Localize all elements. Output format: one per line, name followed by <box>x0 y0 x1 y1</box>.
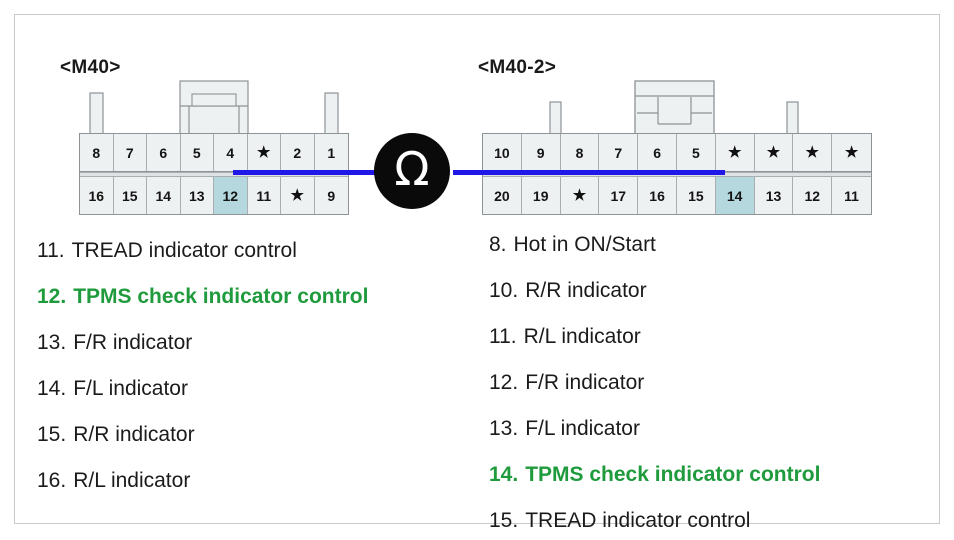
pin-description-m40-13: 13.F/R indicator <box>37 319 487 365</box>
pin-cell-m40-2-top-star[interactable]: ★ <box>832 134 871 171</box>
pin-cell-m40-2-top-5[interactable]: 5 <box>677 134 716 171</box>
pin-cell-m40-bottom-11[interactable]: 11 <box>248 177 282 214</box>
pin-cell-label: 19 <box>533 188 549 204</box>
pin-description-number: 16. <box>37 470 66 491</box>
pin-description-m40-14: 14.F/L indicator <box>37 365 487 411</box>
pin-cell-label: 13 <box>766 188 782 204</box>
pin-cell-label: 11 <box>256 188 271 204</box>
pin-cell-label: 13 <box>189 188 205 204</box>
pin-cell-label: 5 <box>692 145 700 161</box>
pin-description-m40-2-12: 12.F/R indicator <box>489 359 949 405</box>
pin-description-text: TREAD indicator control <box>72 240 297 261</box>
pin-cell-label: 14 <box>155 188 171 204</box>
pin-cell-label: 9 <box>537 145 545 161</box>
pin-description-text: TPMS check indicator control <box>525 464 820 485</box>
pin-description-text: F/R indicator <box>73 332 192 353</box>
pin-cell-label: ★ <box>728 145 741 160</box>
pin-cell-label: 15 <box>688 188 704 204</box>
m40-pin-description-list: 11.TREAD indicator control12.TPMS check … <box>37 227 487 503</box>
pin-cell-label: 12 <box>804 188 820 204</box>
pin-description-number: 8. <box>489 234 507 255</box>
pin-cell-label: 7 <box>126 145 134 161</box>
pin-cell-m40-bottom-12[interactable]: 12 <box>214 177 248 214</box>
wire-segment-right <box>453 170 725 175</box>
pin-cell-m40-top-1[interactable]: 1 <box>315 134 349 171</box>
pin-cell-m40-2-bottom-12[interactable]: 12 <box>793 177 832 214</box>
pin-description-text: TPMS check indicator control <box>73 286 368 307</box>
pin-cell-m40-top-6[interactable]: 6 <box>147 134 181 171</box>
pin-description-m40-15: 15.R/R indicator <box>37 411 487 457</box>
pin-description-text: R/L indicator <box>73 470 190 491</box>
m40-top-pin-row: 87654★21 <box>80 134 348 172</box>
pin-description-number: 12. <box>37 286 66 307</box>
pin-cell-label: 16 <box>88 188 104 204</box>
pin-cell-label: ★ <box>291 188 304 203</box>
pin-cell-label: 9 <box>327 188 335 204</box>
pin-cell-m40-top-8[interactable]: 8 <box>80 134 114 171</box>
pin-description-m40-2-15: 15.TREAD indicator control <box>489 497 949 540</box>
pin-description-text: F/L indicator <box>73 378 188 399</box>
pin-description-m40-2-11: 11.R/L indicator <box>489 313 949 359</box>
pin-cell-label: ★ <box>806 145 819 160</box>
pin-cell-m40-2-top-6[interactable]: 6 <box>638 134 677 171</box>
pin-description-number: 12. <box>489 372 518 393</box>
m40-bottom-pin-row: 161514131211★9 <box>80 177 348 214</box>
pin-cell-m40-2-bottom-13[interactable]: 13 <box>755 177 794 214</box>
pin-description-m40-16: 16.R/L indicator <box>37 457 487 503</box>
pin-description-text: F/R indicator <box>525 372 644 393</box>
pin-cell-m40-2-top-star[interactable]: ★ <box>716 134 755 171</box>
ohm-meter-icon: Ω <box>374 133 450 209</box>
pin-cell-m40-2-top-10[interactable]: 10 <box>483 134 522 171</box>
pin-cell-label: 10 <box>494 145 510 161</box>
pin-description-m40-2-13: 13.F/L indicator <box>489 405 949 451</box>
pin-description-number: 11. <box>489 326 517 347</box>
pin-cell-m40-top-2[interactable]: 2 <box>281 134 315 171</box>
pin-description-m40-12: 12.TPMS check indicator control <box>37 273 487 319</box>
pin-description-number: 14. <box>37 378 66 399</box>
pin-cell-m40-2-top-8[interactable]: 8 <box>561 134 600 171</box>
pin-description-text: R/R indicator <box>525 280 646 301</box>
pin-description-number: 14. <box>489 464 518 485</box>
pin-cell-label: 14 <box>727 188 743 204</box>
pin-cell-label: 5 <box>193 145 201 161</box>
pin-cell-label: 1 <box>327 145 335 161</box>
pin-cell-label: 8 <box>576 145 584 161</box>
pin-description-text: R/R indicator <box>73 424 194 445</box>
pin-description-number: 13. <box>37 332 66 353</box>
pin-cell-m40-bottom-13[interactable]: 13 <box>181 177 215 214</box>
pin-cell-m40-2-top-9[interactable]: 9 <box>522 134 561 171</box>
ohm-symbol: Ω <box>394 146 429 192</box>
pin-description-text: TREAD indicator control <box>525 510 750 531</box>
pin-cell-m40-2-bottom-11[interactable]: 11 <box>832 177 871 214</box>
pin-description-text: Hot in ON/Start <box>514 234 656 255</box>
pin-cell-label: 4 <box>226 145 234 161</box>
pin-cell-label: ★ <box>257 145 270 160</box>
pin-cell-m40-top-4[interactable]: 4 <box>214 134 248 171</box>
pin-cell-m40-2-top-star[interactable]: ★ <box>755 134 794 171</box>
diagram-canvas: <M40> 87654★21 161514131211★9 <M40-2> <box>0 0 954 540</box>
pin-cell-label: 2 <box>293 145 301 161</box>
pin-cell-m40-bottom-16[interactable]: 16 <box>80 177 114 214</box>
pin-cell-m40-2-bottom-20[interactable]: 20 <box>483 177 522 214</box>
pin-description-text: R/L indicator <box>524 326 641 347</box>
pin-cell-label: 8 <box>92 145 100 161</box>
pin-cell-m40-2-bottom-15[interactable]: 15 <box>677 177 716 214</box>
pin-description-m40-2-10: 10.R/R indicator <box>489 267 949 313</box>
pin-cell-label: ★ <box>767 145 780 160</box>
pin-cell-m40-top-5[interactable]: 5 <box>181 134 215 171</box>
pin-cell-m40-2-bottom-star[interactable]: ★ <box>561 177 600 214</box>
pin-cell-m40-bottom-15[interactable]: 15 <box>114 177 148 214</box>
wire-segment-left <box>233 170 393 175</box>
pin-cell-m40-2-bottom-14[interactable]: 14 <box>716 177 755 214</box>
pin-cell-label: 17 <box>611 188 627 204</box>
pin-cell-m40-bottom-14[interactable]: 14 <box>147 177 181 214</box>
pin-cell-m40-top-7[interactable]: 7 <box>114 134 148 171</box>
pin-cell-m40-2-bottom-17[interactable]: 17 <box>599 177 638 214</box>
pin-cell-label: 15 <box>122 188 138 204</box>
pin-description-number: 13. <box>489 418 518 439</box>
pin-description-m40-11: 11.TREAD indicator control <box>37 227 487 273</box>
pin-description-m40-2-14: 14.TPMS check indicator control <box>489 451 949 497</box>
m40-2-pin-description-list: 8.Hot in ON/Start10.R/R indicator11.R/L … <box>489 221 949 540</box>
pin-cell-m40-bottom-star[interactable]: ★ <box>281 177 315 214</box>
pin-cell-m40-2-bottom-19[interactable]: 19 <box>522 177 561 214</box>
pin-description-number: 11. <box>37 240 65 261</box>
pin-cell-m40-2-bottom-16[interactable]: 16 <box>638 177 677 214</box>
pin-cell-label: ★ <box>573 188 586 203</box>
m40-2-bottom-pin-row: 2019★17161514131211 <box>483 177 871 214</box>
m40-connector-housing-art <box>79 75 349 135</box>
pin-cell-m40-2-top-7[interactable]: 7 <box>599 134 638 171</box>
pin-cell-m40-top-star[interactable]: ★ <box>248 134 282 171</box>
pin-cell-label: 12 <box>222 188 238 204</box>
pin-cell-m40-bottom-9[interactable]: 9 <box>315 177 349 214</box>
pin-cell-label: 16 <box>649 188 665 204</box>
m40-2-connector-housing-art <box>482 70 872 135</box>
pin-description-text: F/L indicator <box>525 418 640 439</box>
pin-description-number: 15. <box>37 424 66 445</box>
pin-description-number: 15. <box>489 510 518 531</box>
pin-cell-m40-2-top-star[interactable]: ★ <box>793 134 832 171</box>
pin-description-number: 10. <box>489 280 518 301</box>
pin-cell-label: 11 <box>844 188 859 204</box>
pin-cell-label: 6 <box>159 145 167 161</box>
pin-cell-label: 6 <box>653 145 661 161</box>
pin-description-m40-2-8: 8.Hot in ON/Start <box>489 221 949 267</box>
diagram-frame: <M40> 87654★21 161514131211★9 <M40-2> <box>14 14 940 524</box>
pin-cell-label: ★ <box>845 145 858 160</box>
pin-cell-label: 20 <box>494 188 510 204</box>
m40-2-top-pin-row: 1098765★★★★ <box>483 134 871 172</box>
pin-cell-label: 7 <box>614 145 622 161</box>
